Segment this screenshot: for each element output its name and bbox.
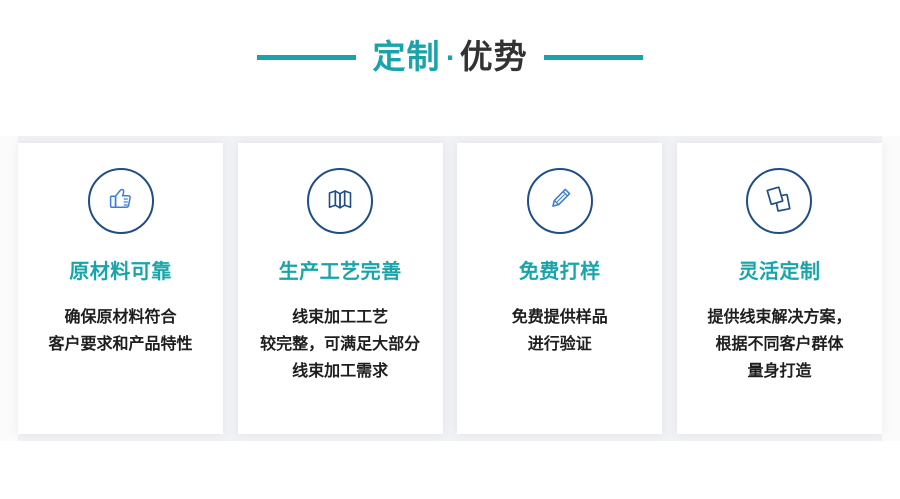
page-title: 定制 · 优势 (372, 40, 527, 74)
card-title: 生产工艺完善 (279, 261, 402, 281)
card-description: 免费提供样品 进行验证 (467, 303, 653, 357)
icon-circle (527, 168, 593, 234)
card-title: 灵活定制 (738, 261, 820, 281)
icon-circle (746, 168, 812, 234)
card-description-line: 客户要求和产品特性 (28, 330, 214, 357)
feature-card[interactable]: 免费打样 免费提供样品 进行验证 (457, 143, 662, 434)
pencil-icon (543, 182, 577, 220)
feature-card[interactable]: 生产工艺完善 线束加工工艺 较完整，可满足大部分 线束加工需求 (238, 143, 443, 434)
page-margin-right (882, 136, 900, 441)
feature-card[interactable]: 原材料可靠 确保原材料符合 客户要求和产品特性 (18, 143, 223, 434)
card-description-line: 量身打造 (686, 357, 872, 384)
card-description: 线束加工工艺 较完整，可满足大部分 线束加工需求 (247, 303, 433, 384)
thumbs-up-icon (104, 182, 138, 220)
page-title-main: 优势 (460, 40, 528, 73)
card-description-line: 线束加工工艺 (247, 303, 433, 330)
card-title: 原材料可靠 (69, 261, 172, 281)
heading-rule-right (544, 55, 643, 60)
section-header: 定制 · 优势 (0, 26, 900, 88)
page-title-accent: 定制 (372, 40, 440, 73)
card-description-line: 进行验证 (467, 330, 653, 357)
card-description-line: 线束加工需求 (247, 357, 433, 384)
page-margin-left (0, 136, 18, 441)
card-description: 确保原材料符合 客户要求和产品特性 (28, 303, 214, 357)
card-description-line: 根据不同客户群体 (686, 330, 872, 357)
icon-circle (88, 168, 154, 234)
icon-circle (307, 168, 373, 234)
card-description: 提供线束解决方案， 根据不同客户群体 量身打造 (686, 303, 872, 384)
card-description-line: 免费提供样品 (467, 303, 653, 330)
card-description-line: 提供线束解决方案， (686, 303, 872, 330)
page-title-separator: · (440, 44, 459, 72)
card-title: 免费打样 (519, 261, 601, 281)
card-description-line: 确保原材料符合 (28, 303, 214, 330)
feature-card[interactable]: 灵活定制 提供线束解决方案， 根据不同客户群体 量身打造 (677, 143, 882, 434)
feature-cards-row: 原材料可靠 确保原材料符合 客户要求和产品特性 生产工艺完善 线束加工工艺 较完… (18, 143, 882, 434)
heading-rule-left (257, 55, 356, 60)
folded-map-icon (323, 182, 357, 220)
card-description-line: 较完整，可满足大部分 (247, 330, 433, 357)
stacked-cards-icon (762, 182, 796, 220)
